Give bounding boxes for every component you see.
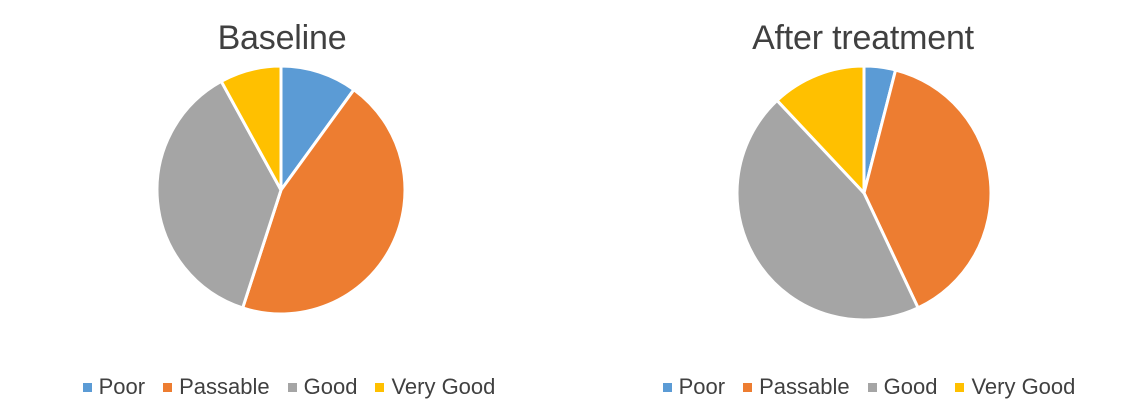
page-title-baseline: Baseline <box>218 18 347 58</box>
legend-swatch-icon <box>868 383 877 392</box>
legend-swatch-icon <box>955 383 964 392</box>
legend-item-good[interactable]: Good <box>288 374 358 400</box>
legend-item-passable[interactable]: Passable <box>743 374 850 400</box>
legend-item-label: Poor <box>679 374 725 400</box>
legend-item-label: Passable <box>759 374 850 400</box>
pie-chart-figure: Baseline PoorPassableGoodVery Good After… <box>0 0 1148 414</box>
after-treatment-legend: PoorPassableGoodVery Good <box>574 374 1148 400</box>
legend-item-label: Passable <box>179 374 270 400</box>
legend-item-label: Good <box>884 374 938 400</box>
legend-item-label: Good <box>304 374 358 400</box>
legend-item-very-good[interactable]: Very Good <box>375 374 495 400</box>
legend-swatch-icon <box>163 383 172 392</box>
after-treatment-panel: After treatment PoorPassableGoodVery Goo… <box>574 0 1148 414</box>
after-treatment-pie-chart <box>735 64 993 322</box>
legend-item-good[interactable]: Good <box>868 374 938 400</box>
legend-swatch-icon <box>743 383 752 392</box>
legend-swatch-icon <box>663 383 672 392</box>
legend-item-label: Poor <box>99 374 145 400</box>
baseline-pie-chart <box>155 64 407 316</box>
baseline-panel: Baseline PoorPassableGoodVery Good <box>0 0 574 414</box>
legend-item-label: Very Good <box>971 374 1075 400</box>
baseline-pie-wrap <box>155 64 407 316</box>
legend-item-label: Very Good <box>391 374 495 400</box>
legend-swatch-icon <box>83 383 92 392</box>
legend-item-very-good[interactable]: Very Good <box>955 374 1075 400</box>
after-treatment-pie-wrap <box>735 64 993 322</box>
legend-item-poor[interactable]: Poor <box>83 374 145 400</box>
legend-swatch-icon <box>288 383 297 392</box>
legend-item-passable[interactable]: Passable <box>163 374 270 400</box>
legend-swatch-icon <box>375 383 384 392</box>
page-title-after-treatment: After treatment <box>752 18 974 58</box>
baseline-legend: PoorPassableGoodVery Good <box>0 374 574 400</box>
legend-item-poor[interactable]: Poor <box>663 374 725 400</box>
